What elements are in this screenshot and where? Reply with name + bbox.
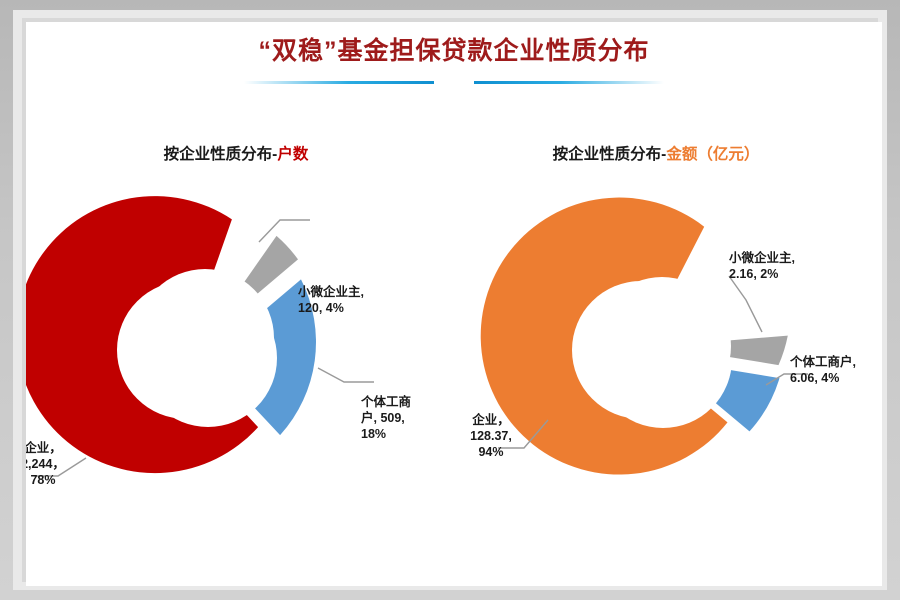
leader-line-micro <box>259 220 310 242</box>
subtitle-amount: 按企业性质分布-金额（亿元） <box>446 142 866 164</box>
subtitle-households-accent: 户数 <box>277 146 308 163</box>
donut-svg-amount <box>446 172 866 532</box>
label-enterprise-households: 企业， 2,244， 78% <box>26 440 88 488</box>
donut-svg-households <box>26 172 446 532</box>
label-enterprise-amount: 企业， 128.37, 94% <box>440 412 542 460</box>
chart-panel-amount: 按企业性质分布-金额（亿元） <box>446 112 866 552</box>
title-underline-left <box>244 81 434 84</box>
chart-panel-households: 按企业性质分布-户数 <box>26 112 446 552</box>
screenshot-root: “双稳”基金担保贷款企业性质分布 按企业性质分布-户数 <box>0 0 900 600</box>
donut-chart-amount: 小微企业主, 2.16, 2% 个体工商户, 6.06, 4% 企业， 128.… <box>446 172 866 532</box>
title-underline-right <box>474 81 664 84</box>
title-block: “双稳”基金担保贷款企业性质分布 <box>26 34 882 88</box>
label-micro-households: 小微企业主, 120, 4% <box>298 284 418 316</box>
subtitle-households-prefix: 按企业性质分布- <box>164 146 278 163</box>
subtitle-amount-accent: 金额（亿元） <box>666 146 759 163</box>
label-micro-amount: 小微企业主, 2.16, 2% <box>729 250 859 282</box>
page-title: “双稳”基金担保贷款企业性质分布 <box>26 34 882 68</box>
subtitle-households: 按企业性质分布-户数 <box>26 142 446 164</box>
subtitle-amount-prefix: 按企业性质分布- <box>553 146 667 163</box>
leader-line-individual <box>318 368 374 382</box>
leader-line-micro-amount <box>729 276 762 332</box>
label-individual-amount: 个体工商户, 6.06, 4% <box>790 354 882 386</box>
title-underline <box>244 78 664 88</box>
slide-canvas: “双稳”基金担保贷款企业性质分布 按企业性质分布-户数 <box>26 22 882 586</box>
donut-chart-households: 小微企业主, 120, 4% 个体工商 户, 509, 18% 企业， 2,24… <box>26 172 446 532</box>
